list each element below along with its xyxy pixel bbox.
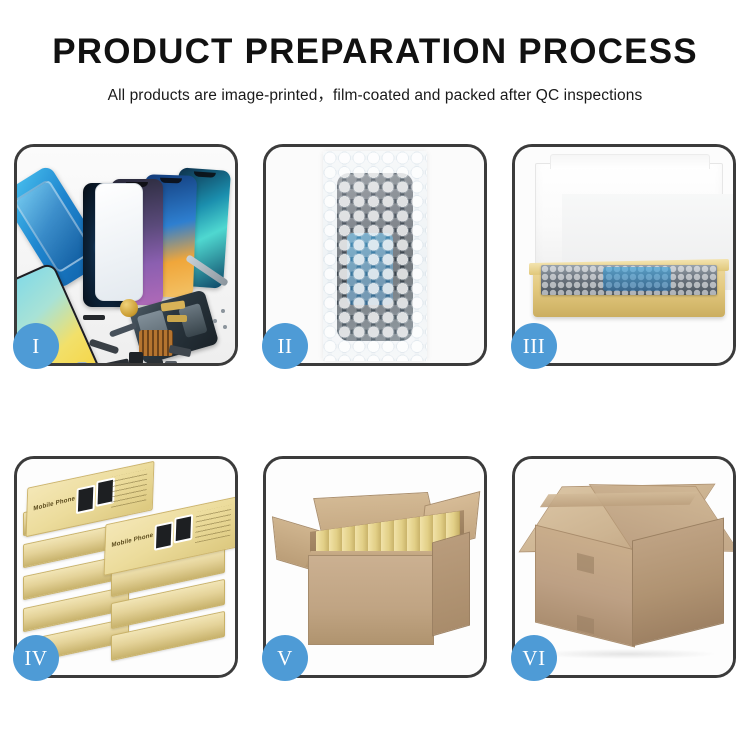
step-panel-3: III bbox=[512, 144, 736, 366]
spare-part-connector bbox=[83, 315, 105, 320]
spare-part-coil bbox=[120, 299, 138, 317]
screen-protector-glass bbox=[95, 183, 143, 301]
notch-icon bbox=[160, 178, 182, 184]
screw-icon bbox=[213, 319, 217, 323]
box-lid-white bbox=[535, 163, 723, 275]
spare-part-chip bbox=[129, 352, 143, 363]
header: PRODUCT PREPARATION PROCESS All products… bbox=[0, 0, 750, 105]
step-badge-1: I bbox=[13, 323, 59, 369]
box-screen-graphic bbox=[174, 514, 193, 544]
spare-part-gold-flex bbox=[167, 315, 187, 322]
box-screen-graphic bbox=[76, 485, 95, 515]
spare-part-flex-cable bbox=[103, 358, 130, 363]
bubble-texture-highlight bbox=[323, 151, 427, 361]
spare-part-sim-tray bbox=[77, 362, 87, 363]
carton-side-face bbox=[632, 518, 724, 647]
screw-icon bbox=[221, 309, 225, 313]
carton-side-face bbox=[432, 532, 470, 637]
wrapped-items-in-box bbox=[541, 265, 717, 295]
box-screen-graphic bbox=[154, 521, 173, 551]
spare-part-ribbon bbox=[109, 322, 137, 337]
step-badge-2: II bbox=[262, 323, 308, 369]
bubble-texture bbox=[541, 265, 717, 295]
screw-icon bbox=[223, 325, 227, 329]
box-spec-text-lines bbox=[195, 505, 231, 543]
step-badge-6: VI bbox=[511, 635, 557, 681]
carton-front-face bbox=[308, 555, 434, 645]
step-panel-2: II bbox=[263, 144, 487, 366]
page-title: PRODUCT PREPARATION PROCESS bbox=[0, 34, 750, 71]
step-badge-4: IV bbox=[13, 635, 59, 681]
spare-part-camera bbox=[147, 359, 163, 363]
step-panel-5: V bbox=[263, 456, 487, 678]
box-spec-text-lines bbox=[111, 469, 147, 507]
notch-icon bbox=[194, 171, 216, 178]
step-panel-4: Mobile Phone Spare Parts Mobile Phone Sp… bbox=[14, 456, 238, 678]
step-badge-5: V bbox=[262, 635, 308, 681]
step-panel-1: I bbox=[14, 144, 238, 366]
step-badge-3: III bbox=[511, 323, 557, 369]
spare-part-button bbox=[165, 361, 177, 363]
box-stack: Mobile Phone Spare Parts Mobile Phone Sp… bbox=[23, 471, 231, 667]
carton-shadow bbox=[539, 649, 715, 659]
page-subtitle: All products are image-printed，film-coat… bbox=[0, 83, 750, 105]
step-panel-6: VI bbox=[512, 456, 736, 678]
steps-grid: I II III bbox=[14, 144, 736, 678]
product-preparation-infographic: PRODUCT PREPARATION PROCESS All products… bbox=[0, 0, 750, 750]
bubble-wrap-sheet bbox=[323, 151, 427, 361]
carton-seal-tape bbox=[540, 492, 698, 508]
